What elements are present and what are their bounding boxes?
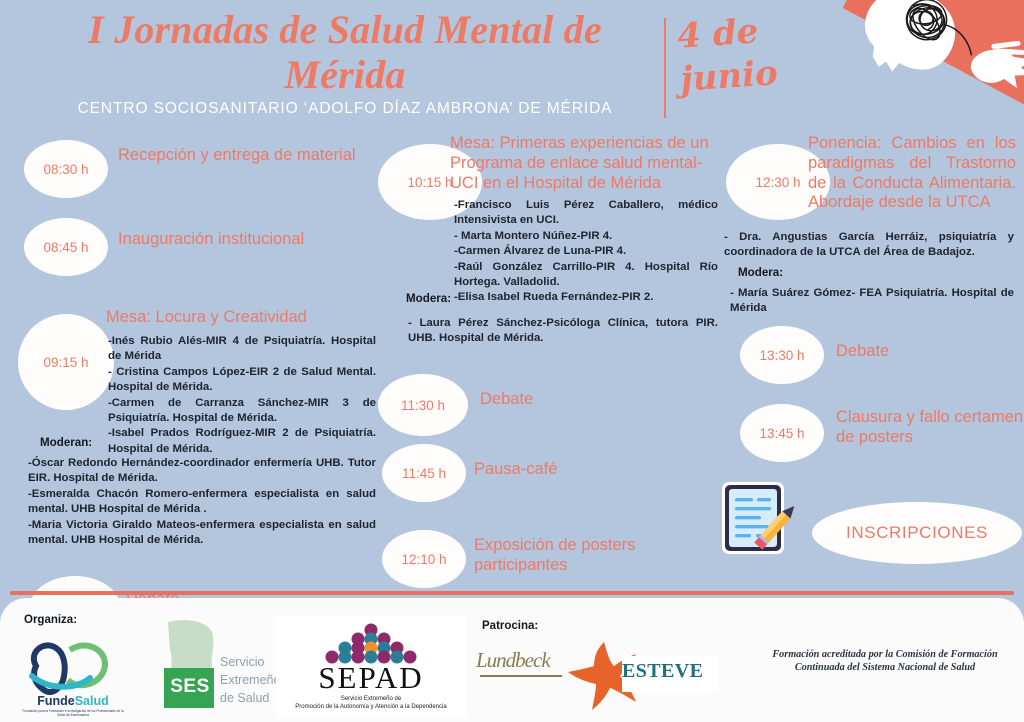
footer-divider [10,591,1014,595]
ses-abbr: SES [166,676,214,698]
logo-sepad: SEPAD Servicio Extremeño de Promoción de… [276,616,466,718]
session-speakers: - Dra. Angustias García Herráiz, psiquia… [724,230,1014,261]
program-item: 13:30 h Debate [722,326,1018,398]
lundbeck-underline [480,675,562,677]
session-title: Clausura y fallo certamen de posters [836,408,1024,448]
fundesalud-part2: Salud [75,694,109,708]
organiza-label: Organiza: [24,614,77,626]
date-divider-rule [664,18,666,118]
logo-ses: SES Servicio Extremeño de Salud [150,616,280,716]
poster-footer: Organiza: Patrocina: FundeSalud Fundació… [0,598,1024,722]
logo-esteve: ESTEVE [622,656,718,692]
session-speakers: -Francisco Luis Pérez Caballero, médico … [454,198,718,306]
time-badge: 09:15 h [18,314,114,410]
program-column-2: 10:15 h Mesa: Primeras experiencias de u… [378,126,726,592]
program-item: 12:10 h Exposición de posters participan… [378,514,726,592]
moderator-label: Modera: [406,292,451,305]
logo-fundesalud: FundeSalud Fundación para la Formación e… [18,632,128,718]
program-item: 12:30 h Ponencia: Cambios en los paradig… [722,126,1018,326]
page-subtitle: CENTRO SOCIOSANITARIO ‘ADOLFO DÍAZ AMBRO… [40,100,650,118]
session-title: Inauguración institucional [118,230,368,250]
program-item: 11:45 h Pausa-café [378,442,726,514]
head-with-tangled-thread-icon [838,0,1024,110]
ses-line1: Servicio [220,654,280,672]
sepad-line1: Servicio Extremeño de [276,696,466,702]
ses-line3: de Salud [220,690,280,708]
session-title: Debate [480,390,680,410]
program-item: 10:15 h Mesa: Primeras experiencias de u… [378,126,726,374]
program-item: 11:30 h Debate [378,374,726,442]
program-item: 09:15 h Mesa: Locura y Creatividad -Inés… [18,284,390,584]
time-badge: 12:10 h [382,530,466,588]
program-item: 08:45 h Inauguración institucional [18,206,390,284]
inscriptions-button[interactable]: INSCRIPCIONES [812,502,1022,564]
time-badge: 13:30 h [740,326,824,384]
session-title: Debate [836,342,1006,362]
fundesalud-tagline: Fundación para la Formación e Investigac… [20,709,126,717]
session-title: Mesa: Locura y Creatividad [106,308,376,328]
moderator-list: - María Suárez Gómez- FEA Psiquiatría. H… [730,286,1014,317]
esteve-wordmark: ESTEVE [622,656,718,683]
ses-line2: Extremeño [220,672,280,690]
moderator-list: -Óscar Redondo Hernández-coordinador enf… [28,456,376,548]
moderator-label: Modera: [738,266,783,279]
program-column-1: 08:30 h Recepción y entrega de material … [18,132,390,654]
poster-root: I Jornadas de Salud Mental de Mérida CEN… [0,0,1024,722]
moderator-list: - Laura Pérez Sánchez-Psicóloga Clínica,… [408,316,718,347]
page-title: I Jornadas de Salud Mental de Mérida [40,8,650,98]
time-badge: 11:45 h [382,444,466,502]
event-date: 4 de junio [676,3,861,100]
session-title: Mesa: Primeras experiencias de un Progra… [450,134,718,193]
sepad-abbr: SEPAD [276,660,466,696]
fundesalud-part1: Funde [37,694,75,708]
session-title: Pausa-café [474,460,674,480]
accreditation-note: Formación acreditada por la Comisión de … [760,648,1010,675]
session-title: Exposición de posters participantes [474,536,664,576]
time-badge: 13:45 h [740,404,824,462]
program-item: 13:45 h Clausura y fallo certamen de pos… [722,398,1018,478]
session-title: Ponencia: Cambios en los paradigmas del … [808,134,1016,213]
sepad-line2: Promoción de la Autonomía y Atención a l… [276,704,466,710]
time-badge: 08:30 h [24,140,108,198]
poster-header: I Jornadas de Salud Mental de Mérida CEN… [0,0,1024,130]
document-with-pencil-icon [712,474,804,566]
session-speakers: -Inés Rubio Alés-MIR 4 de Psiquiatría. H… [108,334,376,457]
moderator-label: Moderan: [40,436,92,449]
program-item: 08:30 h Recepción y entrega de material [18,132,390,206]
patrocina-label: Patrocina: [482,620,538,632]
session-title: Recepción y entrega de material [118,146,358,166]
time-badge: 11:30 h [378,374,468,436]
time-badge: 08:45 h [24,218,108,276]
program-column-3: 12:30 h Ponencia: Cambios en los paradig… [722,126,1018,478]
